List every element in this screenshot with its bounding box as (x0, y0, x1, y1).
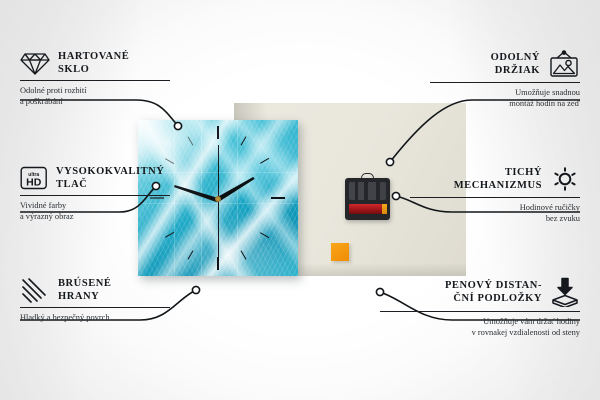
feature-silent-mechanism[interactable]: TICHÝ MECHANIZMUS Hodinové ručičky bez z… (410, 165, 580, 224)
feature-title: HARTOVANÉ (58, 50, 129, 63)
feature-subtitle-line1: Hodinové ručičky (410, 202, 580, 213)
feature-subtitle-line1: Umožňuje snadnou (430, 87, 580, 98)
feature-title: ODOLNÝ (491, 51, 540, 64)
feature-subtitle: Hladký a bezpečný povrch (20, 312, 170, 323)
feature-title: PENOVÝ DISTAN- (445, 279, 542, 292)
feature-subtitle-line1: Umožňuje vám držať hodiny (380, 316, 580, 327)
feature-hardened-glass[interactable]: HARTOVANÉ SKLO Odolné proti rozbití a po… (20, 50, 170, 107)
brushed-edges-icon (20, 277, 50, 303)
feature-subtitle-line2: a výrazný obraz (20, 211, 170, 222)
feature-head: HARTOVANÉ SKLO (20, 50, 170, 76)
ultra-hd-icon-large-text: HD (26, 177, 42, 189)
feature-title-line2: ČNÍ PODLOŽKY (445, 292, 542, 305)
feature-durable-holder[interactable]: ODOLNÝ DRŽIAK Umožňuje snadnou montáž ho… (430, 50, 580, 109)
feature-title-line2: DRŽIAK (491, 64, 540, 77)
feature-subtitle: Umožňuje snadnou montáž hodin na zeď (430, 87, 580, 109)
feature-head: TICHÝ MECHANIZMUS (410, 165, 580, 193)
picture-frame-hanger-icon (548, 50, 580, 78)
foam-layers-arrow-icon (550, 277, 580, 307)
diamond-icon (20, 50, 50, 76)
feature-subtitle-line2: montáž hodin na zeď (430, 98, 580, 109)
feature-title-line2: SKLO (58, 63, 129, 76)
feature-subtitle-line1: Hladký a bezpečný povrch (20, 312, 170, 323)
feature-head: ODOLNÝ DRŽIAK (430, 50, 580, 78)
mechanism-detail (349, 182, 386, 200)
feature-subtitle: Umožňuje vám držať hodiny v rovnakej vzd… (380, 316, 580, 338)
ultra-hd-icon: ultra HD (20, 165, 48, 191)
feature-rule (430, 82, 580, 83)
feature-foam-spacers[interactable]: PENOVÝ DISTAN- ČNÍ PODLOŽKY Umožňuje vám… (380, 277, 580, 338)
feature-title-line2: TLAČ (56, 178, 164, 191)
feature-rule (20, 195, 170, 196)
feature-head: BRÚSENÉ HRANY (20, 277, 170, 303)
feature-subtitle-line1: Odolné proti rozbití (20, 85, 170, 96)
feature-subtitle: Hodinové ručičky bez zvuku (410, 202, 580, 224)
clock-mechanism (345, 178, 390, 220)
battery-terminal (382, 204, 387, 214)
feature-head: ultra HD VYSOKOKVALITNÝ TLAČ (20, 165, 170, 191)
feature-head: PENOVÝ DISTAN- ČNÍ PODLOŽKY (380, 277, 580, 307)
feature-subtitle-line2: bez zvuku (410, 213, 580, 224)
feature-title-line2: MECHANIZMUS (454, 179, 542, 192)
feature-rule (380, 311, 580, 312)
feature-title: TICHÝ (454, 166, 542, 179)
feature-title: VYSOKOKVALITNÝ (56, 165, 164, 178)
feature-title: BRÚSENÉ (58, 277, 111, 290)
feature-rule (20, 307, 170, 308)
gear-icon (550, 165, 580, 193)
feature-rule (410, 197, 580, 198)
feature-subtitle: Vividné farby a výrazný obraz (20, 200, 170, 222)
battery (349, 204, 382, 214)
feature-high-quality-print[interactable]: ultra HD VYSOKOKVALITNÝ TLAČ Vividné far… (20, 165, 170, 222)
feature-subtitle-line2: a poškrábání (20, 96, 170, 107)
feature-title-line2: HRANY (58, 290, 111, 303)
feature-subtitle-line1: Vividné farby (20, 200, 170, 211)
feature-ground-edges[interactable]: BRÚSENÉ HRANY Hladký a bezpečný povrch (20, 277, 170, 323)
feature-rule (20, 80, 170, 81)
feature-subtitle: Odolné proti rozbití a poškrábání (20, 85, 170, 107)
feature-subtitle-line2: v rovnakej vzdialenosti od steny (380, 327, 580, 338)
foam-spacer-pad (331, 243, 349, 261)
